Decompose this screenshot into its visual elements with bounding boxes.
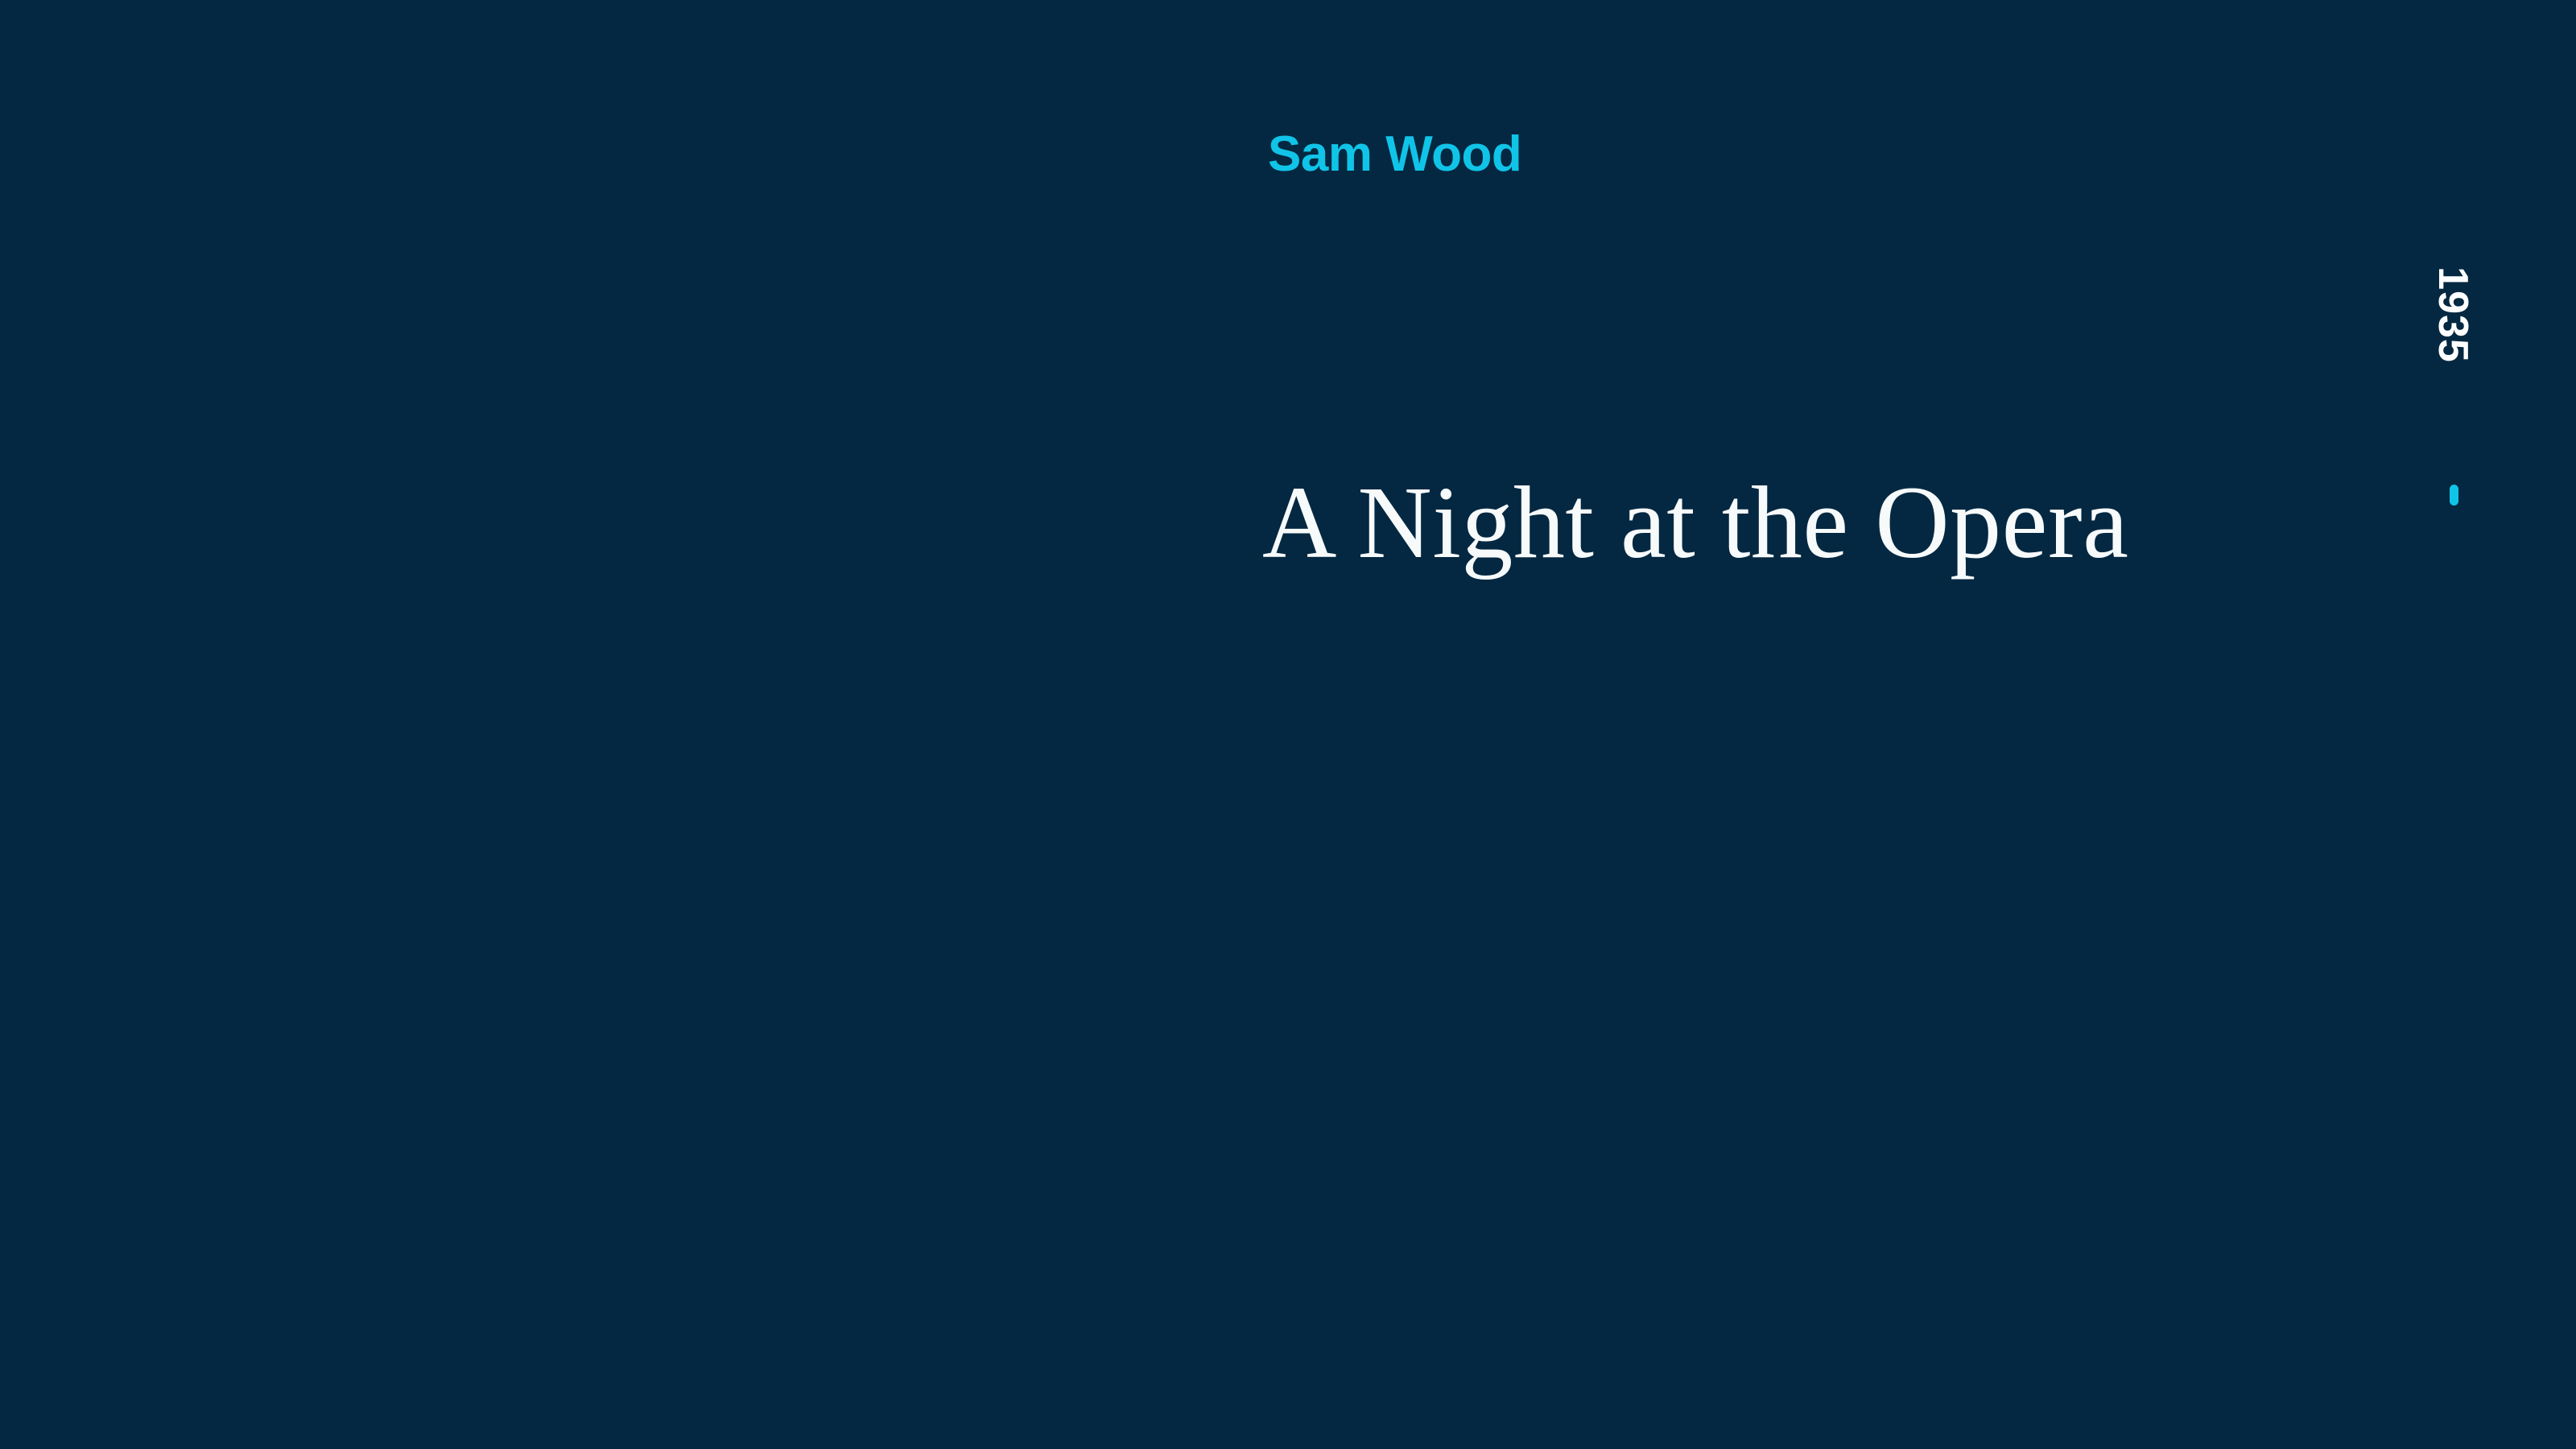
title-card-stage: Sam Wood A Night at the Opera 1935 (0, 0, 2576, 1449)
director-name: Sam Wood (1268, 125, 1521, 184)
year-rail: 1935 (2425, 230, 2481, 399)
cyan-pill-marker-icon (2450, 485, 2458, 506)
release-year: 1935 (2432, 266, 2474, 363)
film-title: A Night at the Opera (1262, 465, 2128, 580)
